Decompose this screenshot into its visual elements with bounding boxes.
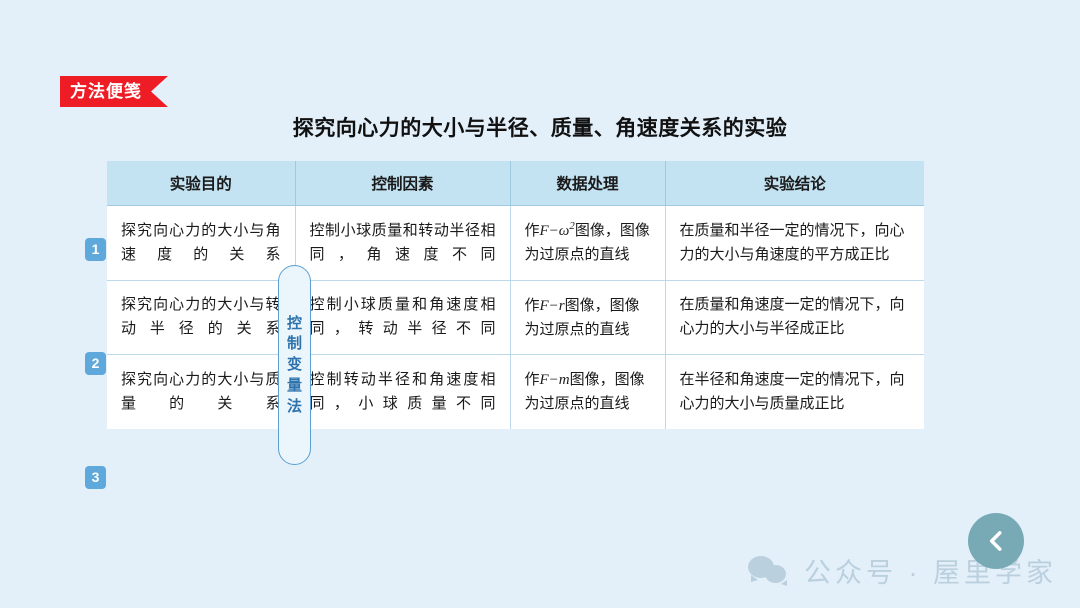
pill-char-3: 变 xyxy=(287,356,302,374)
cell-factor: 控制小球质量和转动半径相同，角速度不同 xyxy=(295,206,510,281)
experiment-table: 实验目的 控制因素 数据处理 实验结论 探究向心力的大小与角速度的关系 控制小球… xyxy=(107,161,924,429)
cell-conclusion: 在半径和角速度一定的情况下，向心力的大小与质量成正比 xyxy=(665,355,924,429)
method-note-ribbon: 方法便笺 xyxy=(60,76,168,107)
cell-purpose: 探究向心力的大小与转动半径的关系 xyxy=(107,280,295,355)
data-prefix: 作 xyxy=(525,298,540,314)
cell-factor: 控制小球质量和角速度相同，转动半径不同 xyxy=(295,280,510,355)
table-row: 探究向心力的大小与转动半径的关系 控制小球质量和角速度相同，转动半径不同 作F−… xyxy=(107,280,924,355)
page-title: 探究向心力的大小与半径、质量、角速度关系的实验 xyxy=(0,112,1080,142)
pill-char-4: 量 xyxy=(287,377,302,395)
table-header-row: 实验目的 控制因素 数据处理 实验结论 xyxy=(107,161,924,206)
data-variable: F−ω xyxy=(540,223,570,239)
column-header-factor: 控制因素 xyxy=(295,161,510,206)
pill-char-5: 法 xyxy=(287,398,302,416)
cell-data-processing: 作F−r图像，图像为过原点的直线 xyxy=(510,280,665,355)
experiment-table-container: 实验目的 控制因素 数据处理 实验结论 探究向心力的大小与角速度的关系 控制小球… xyxy=(107,161,924,429)
data-variable: F−m xyxy=(540,372,570,388)
back-button[interactable] xyxy=(968,513,1024,569)
data-prefix: 作 xyxy=(525,372,540,388)
cell-factor: 控制转动半径和角速度相同，小球质量不同 xyxy=(295,355,510,429)
column-header-purpose: 实验目的 xyxy=(107,161,295,206)
ribbon-label: 方法便笺 xyxy=(70,82,142,101)
pill-char-2: 制 xyxy=(287,335,302,353)
table-row: 探究向心力的大小与质量的关系 控制转动半径和角速度相同，小球质量不同 作F−m图… xyxy=(107,355,924,429)
row-number-badge-2: 2 xyxy=(85,352,106,375)
chevron-left-icon xyxy=(983,528,1009,554)
table-row: 探究向心力的大小与角速度的关系 控制小球质量和转动半径相同，角速度不同 作F−ω… xyxy=(107,206,924,281)
row-number-badge-3: 3 xyxy=(85,466,106,489)
pill-char-1: 控 xyxy=(287,315,302,333)
cell-purpose: 探究向心力的大小与质量的关系 xyxy=(107,355,295,429)
cell-purpose: 探究向心力的大小与角速度的关系 xyxy=(107,206,295,281)
row-number-badge-1: 1 xyxy=(85,238,106,261)
cell-conclusion: 在质量和半径一定的情况下，向心力的大小与角速度的平方成正比 xyxy=(665,206,924,281)
wechat-bubbles-icon xyxy=(748,556,792,586)
column-header-conclusion: 实验结论 xyxy=(665,161,924,206)
control-variable-method-pill: 控 制 变 量 法 xyxy=(278,265,311,465)
column-header-data: 数据处理 xyxy=(510,161,665,206)
cell-conclusion: 在质量和角速度一定的情况下，向心力的大小与半径成正比 xyxy=(665,280,924,355)
cell-data-processing: 作F−ω2图像，图像为过原点的直线 xyxy=(510,206,665,281)
cell-data-processing: 作F−m图像，图像为过原点的直线 xyxy=(510,355,665,429)
data-variable: F−r xyxy=(540,298,565,314)
data-prefix: 作 xyxy=(525,223,540,239)
